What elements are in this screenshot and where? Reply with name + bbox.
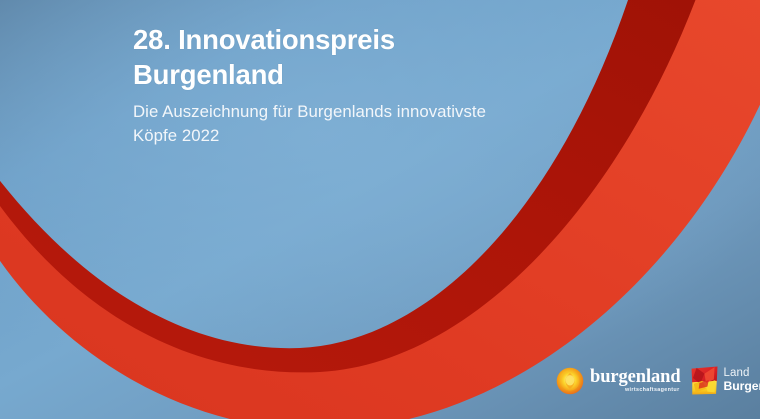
logo-wirtschaftsagentur-burgenland: burgenland wirtschaftsagentur [556, 367, 681, 395]
land-burgenland-wordmark: Land Burgenland [724, 368, 760, 392]
logo-land-burgenland: Land Burgenland [690, 365, 760, 396]
page-subtitle: Die Auszeichnung für Burgenlands innovat… [133, 100, 593, 148]
logo-line-burgenland: Burgenland [724, 380, 760, 392]
logo-bar: burgenland wirtschaftsagentur [556, 365, 760, 396]
page-title: 28. Innovationspreis Burgenland [133, 22, 593, 92]
title-block: 28. Innovationspreis Burgenland Die Ausz… [133, 22, 593, 148]
coat-of-arms-icon [690, 365, 719, 396]
logo-name-burgenland: burgenland [590, 368, 681, 387]
sun-flame-icon [556, 367, 584, 395]
wirtschaftsagentur-wordmark: burgenland wirtschaftsagentur [590, 368, 681, 394]
presentation-slide: 28. Innovationspreis Burgenland Die Ausz… [0, 0, 760, 419]
headline-line-1: 28. Innovationspreis [133, 24, 395, 55]
subtitle-line-2: Köpfe 2022 [133, 126, 219, 145]
logo-tagline-wirtschaftsagentur: wirtschaftsagentur [625, 388, 680, 393]
headline-line-2: Burgenland [133, 59, 284, 90]
subtitle-line-1: Die Auszeichnung für Burgenlands innovat… [133, 102, 486, 121]
